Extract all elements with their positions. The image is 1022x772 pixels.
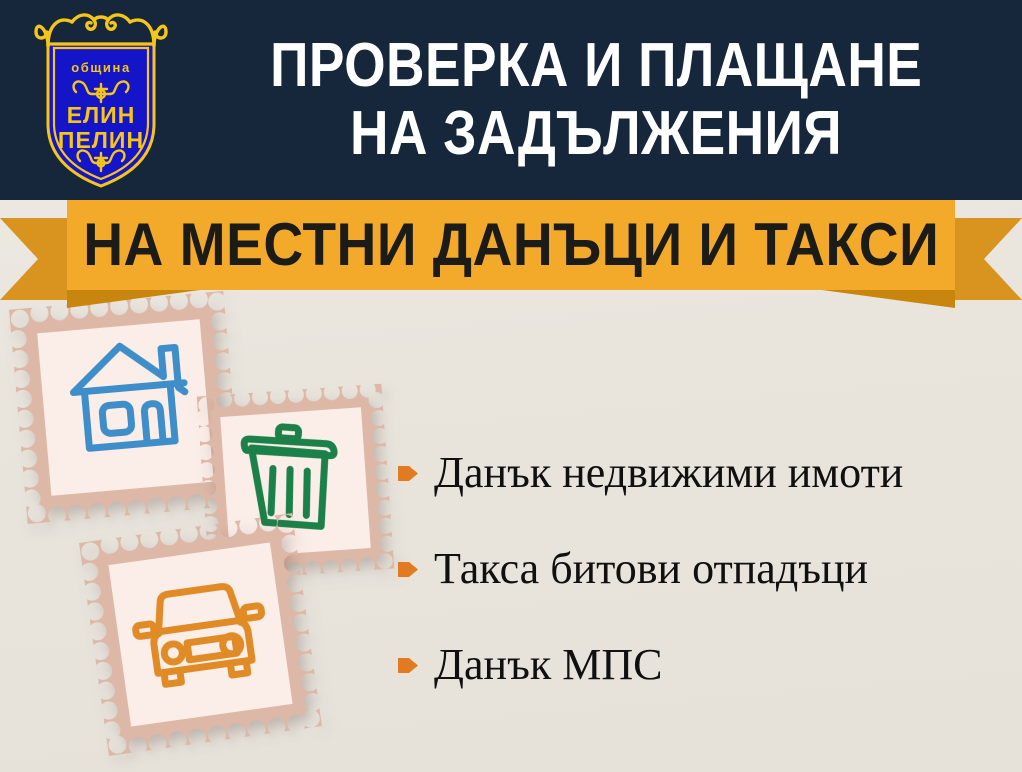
list-item-label: Данък МПС (434, 640, 662, 690)
list-item-label: Данък недвижими имоти (434, 448, 903, 498)
title-line-1: ПРОВЕРКА И ПЛАЩАНЕ (270, 32, 922, 100)
list-item[interactable]: Данък недвижими имоти (398, 425, 1008, 521)
title-line-2: НА ЗАДЪЛЖЕНИЯ (350, 100, 842, 168)
list-item-label: Такса битови отпадъци (434, 544, 868, 594)
ribbon-right-fold (822, 290, 955, 308)
stamp-card-car (79, 513, 322, 756)
arrow-bullet-icon (398, 656, 418, 675)
tax-types-list: Данък недвижими имоти Такса битови отпад… (398, 425, 1008, 713)
poster-title: ПРОВЕРКА И ПЛАЩАНЕ НА ЗАДЪЛЖЕНИЯ (186, 20, 1006, 180)
ribbon-left-tail (0, 218, 75, 300)
arrow-bullet-icon (398, 560, 418, 579)
logo-name-line2: ПЕЛИН (58, 127, 144, 153)
logo-name-line1: ЕЛИН (67, 102, 136, 128)
logo-top-text: община (71, 60, 131, 75)
ribbon-right-tail (947, 218, 1022, 300)
municipality-logo: община ЕЛИН ПЕЛИН (26, 6, 176, 191)
list-item[interactable]: Такса битови отпадъци (398, 521, 1008, 617)
arrow-bullet-icon (398, 464, 418, 483)
ribbon-band (67, 200, 955, 290)
list-item[interactable]: Данък МПС (398, 617, 1008, 713)
ribbon-banner (0, 196, 1022, 316)
ribbon-left-fold (67, 290, 200, 308)
poster-root: община ЕЛИН ПЕЛИН (0, 0, 1022, 772)
header-bar: община ЕЛИН ПЕЛИН (0, 0, 1022, 200)
